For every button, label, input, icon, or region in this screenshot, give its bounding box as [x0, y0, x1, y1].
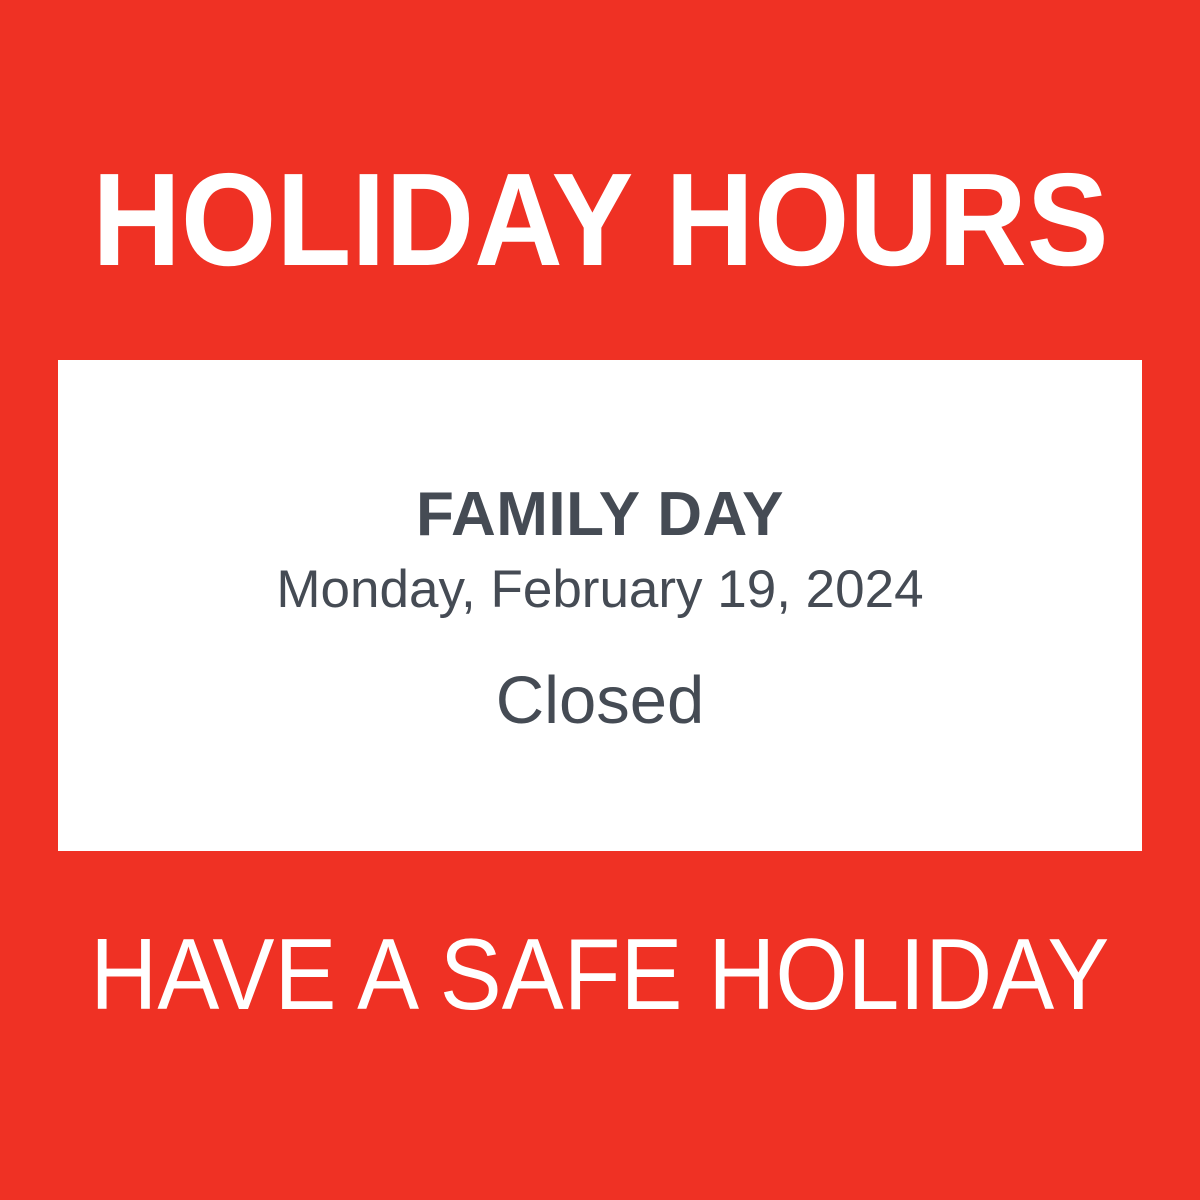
holiday-name: FAMILY DAY [416, 482, 784, 547]
status-badge: Closed [496, 666, 705, 736]
headline-banner: HOLIDAY HOURS [0, 150, 1200, 290]
footer-banner: HAVE A SAFE HOLIDAY [0, 915, 1200, 1035]
holiday-hours-poster: HOLIDAY HOURS FAMILY DAY Monday, Februar… [0, 0, 1200, 1200]
holiday-date: Monday, February 19, 2024 [276, 561, 923, 618]
page-title: HOLIDAY HOURS [92, 154, 1108, 286]
footer-message: HAVE A SAFE HOLIDAY [90, 925, 1109, 1026]
holiday-info-card: FAMILY DAY Monday, February 19, 2024 Clo… [58, 360, 1142, 851]
